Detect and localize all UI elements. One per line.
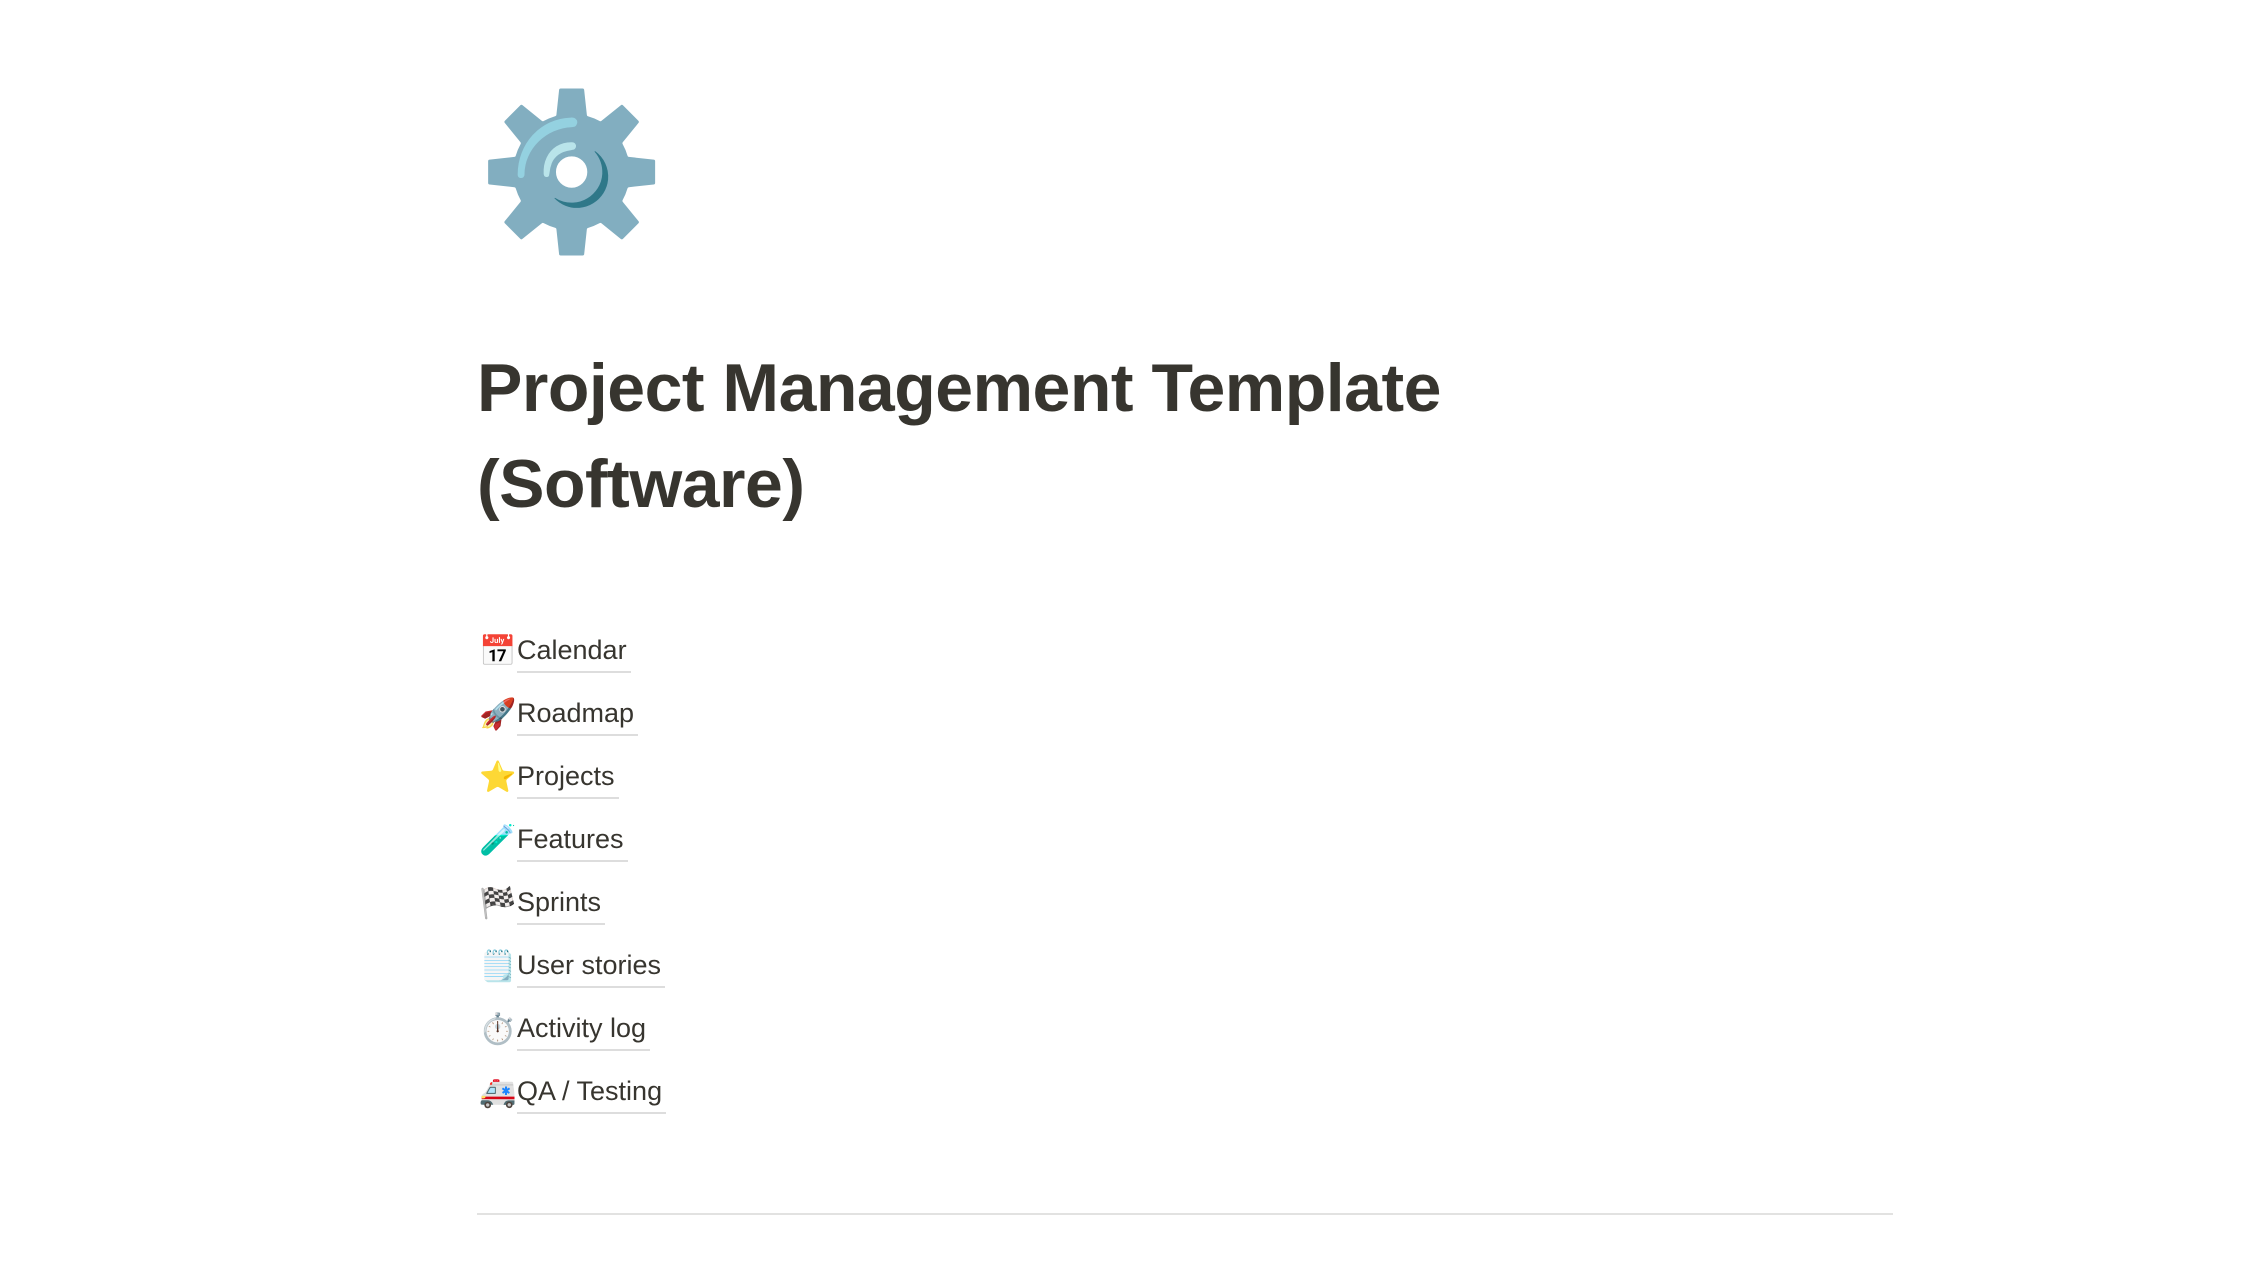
page-title[interactable]: Project Management Template (Software)	[477, 340, 1677, 532]
list-item[interactable]: 🗒️ User stories	[477, 935, 1677, 998]
list-item-label[interactable]: QA / Testing	[517, 1072, 666, 1114]
list-item[interactable]: ⏱️ Activity log	[477, 998, 1677, 1061]
list-item[interactable]: 🧪 Features	[477, 809, 1677, 872]
list-item-label[interactable]: Projects	[517, 757, 619, 799]
list-item[interactable]: 🚑 QA / Testing	[477, 1061, 1677, 1124]
checkered-flag-icon: 🏁	[479, 882, 517, 926]
list-item-label[interactable]: Sprints	[517, 883, 605, 925]
test-tube-icon: 🧪	[479, 819, 517, 863]
calendar-icon: 📅	[479, 630, 517, 674]
star-icon: ⭐	[479, 756, 517, 800]
list-item-label[interactable]: Activity log	[517, 1009, 650, 1051]
stopwatch-icon: ⏱️	[479, 1008, 517, 1052]
list-item-label[interactable]: Features	[517, 820, 628, 862]
list-item-label[interactable]: Roadmap	[517, 694, 638, 736]
page-link-list: 📅 Calendar 🚀 Roadmap ⭐ Projects 🧪 Featur…	[477, 620, 1677, 1124]
document-page: ⚙️ Project Management Template (Software…	[0, 0, 2268, 1280]
list-item[interactable]: 🚀 Roadmap	[477, 683, 1677, 746]
horizontal-divider	[477, 1213, 1893, 1215]
ambulance-icon: 🚑	[479, 1071, 517, 1115]
list-item-label[interactable]: User stories	[517, 946, 665, 988]
list-item-label[interactable]: Calendar	[517, 631, 631, 673]
gear-icon: ⚙️	[477, 80, 657, 260]
list-item[interactable]: ⭐ Projects	[477, 746, 1677, 809]
list-item[interactable]: 📅 Calendar	[477, 620, 1677, 683]
list-item[interactable]: 🏁 Sprints	[477, 872, 1677, 935]
page-icon[interactable]: ⚙️	[477, 80, 657, 260]
notepad-icon: 🗒️	[479, 945, 517, 989]
rocket-icon: 🚀	[479, 693, 517, 737]
